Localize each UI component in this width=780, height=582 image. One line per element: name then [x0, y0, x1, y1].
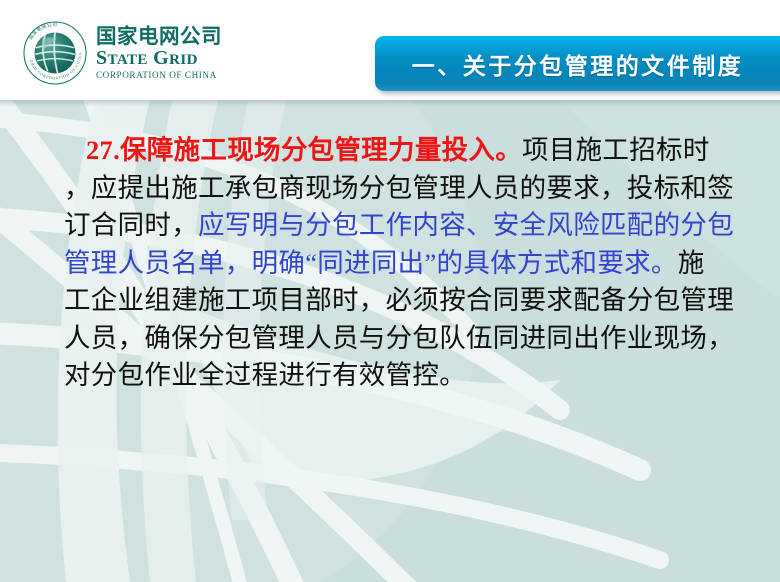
- body-segment-dark: 订合同时，: [64, 210, 198, 240]
- logo-en-s: S: [96, 47, 108, 69]
- presentation-slide: 国家电网公司 GRID CORPORATION OF CHINA 国家电网公司: [0, 0, 780, 582]
- body-segment-blue: 应写明与分包工作内容、安全风险匹配的分包: [198, 210, 734, 240]
- body-segment-dark: 工企业组建施工项目部时，必须按合同要求配备分包管理: [64, 285, 734, 315]
- body-line: 管理人员名单，明确“同进同出”的具体方式和要求。施: [64, 245, 768, 283]
- body-segment-dark: 施: [678, 248, 705, 278]
- body-segment-dark: 人员，确保分包管理人员与分包队伍同进同出作业现场，: [64, 323, 734, 353]
- body-segment-blue: 管理人员名单，明确“同进同出”的具体方式和要求。: [64, 248, 678, 278]
- logo-company-cn: 国家电网公司: [96, 26, 222, 47]
- body-segment-red: 27.保障施工现场分包管理力量投入。: [86, 135, 522, 165]
- body-line: 人员，确保分包管理人员与分包队伍同进同出作业现场，: [64, 320, 768, 358]
- state-grid-logo: 国家电网公司 GRID CORPORATION OF CHINA 国家电网公司: [22, 16, 222, 90]
- slide-body-text: 27.保障施工现场分包管理力量投入。项目施工招标时，应提出施工承包商现场分包管理…: [64, 132, 768, 395]
- body-line: ，应提出施工承包商现场分包管理人员的要求，投标和签: [64, 170, 768, 208]
- logo-en-rid: RID: [169, 52, 198, 68]
- logo-company-subtitle: CORPORATION OF CHINA: [96, 71, 222, 80]
- logo-en-tate: TATE: [108, 52, 148, 68]
- body-segment-dark: ，应提出施工承包商现场分包管理人员的要求，投标和签: [64, 173, 734, 203]
- logo-company-en: STATE GRID: [96, 48, 222, 68]
- state-grid-globe-emblem-icon: 国家电网公司 GRID CORPORATION OF CHINA: [22, 20, 88, 86]
- body-line: 工企业组建施工项目部时，必须按合同要求配备分包管理: [64, 282, 768, 320]
- section-title-banner: 一、关于分包管理的文件制度: [375, 36, 780, 91]
- body-line: 订合同时，应写明与分包工作内容、安全风险匹配的分包: [64, 207, 768, 245]
- logo-wordmark: 国家电网公司 STATE GRID CORPORATION OF CHINA: [96, 26, 222, 81]
- body-line: 对分包作业全过程进行有效管控。: [64, 357, 768, 395]
- header-shadow: [0, 100, 780, 107]
- body-line: 27.保障施工现场分包管理力量投入。项目施工招标时: [64, 132, 768, 170]
- body-segment-dark: 对分包作业全过程进行有效管控。: [64, 360, 466, 390]
- logo-en-g: G: [153, 47, 169, 69]
- body-segment-dark: 项目施工招标时: [522, 135, 710, 165]
- section-title-text: 一、关于分包管理的文件制度: [412, 47, 744, 81]
